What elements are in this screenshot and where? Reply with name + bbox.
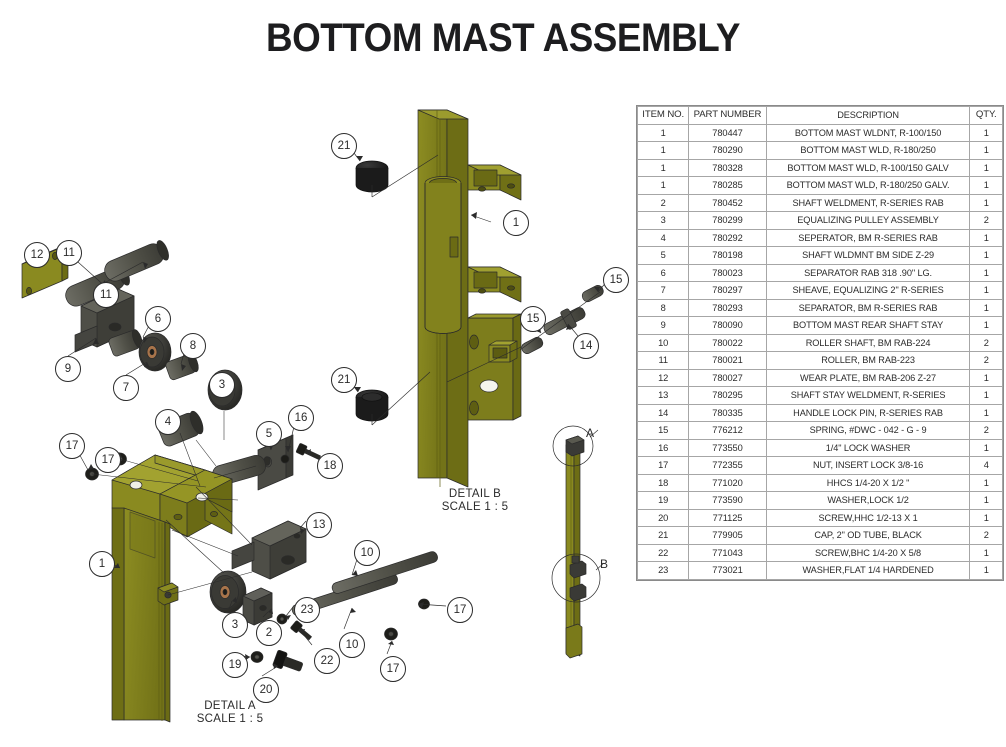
bom-cell-item: 17 [638, 457, 689, 475]
bom-cell-item: 8 [638, 299, 689, 317]
bom-cell-desc: WASHER,FLAT 1/4 HARDENED [766, 562, 970, 580]
drawing-sheet: BOTTOM MAST ASSEMBLY [0, 0, 1006, 747]
bom-cell-desc: HHCS 1/4-20 X 1/2 " [766, 474, 970, 492]
bom-cell-desc: BOTTOM MAST WLD, R-100/150 GALV [766, 159, 970, 177]
bom-cell-item: 23 [638, 562, 689, 580]
bom-col-item: ITEM NO. [638, 107, 689, 125]
bom-col-qty: QTY. [970, 107, 1003, 125]
bom-cell-desc: BOTTOM MAST REAR SHAFT STAY [766, 317, 970, 335]
balloon-callout-17: 17 [447, 597, 473, 623]
detail-b-caption: DETAIL B SCALE 1 : 5 [415, 488, 535, 513]
bom-cell-qty: 1 [970, 124, 1003, 142]
bom-cell-part: 780198 [689, 247, 766, 265]
bom-cell-qty: 1 [970, 299, 1003, 317]
table-row: 7780297SHEAVE, EQUALIZING 2" R-SERIES1 [638, 282, 1003, 300]
bom-cell-part: 771020 [689, 474, 766, 492]
bom-cell-item: 11 [638, 352, 689, 370]
bom-cell-part: 780447 [689, 124, 766, 142]
bom-cell-part: 780299 [689, 212, 766, 230]
pulley-3-lower [210, 571, 246, 613]
bom-cell-part: 776212 [689, 422, 766, 440]
bom-cell-qty: 2 [970, 527, 1003, 545]
table-row: 9780090BOTTOM MAST REAR SHAFT STAY1 [638, 317, 1003, 335]
bom-cell-qty: 1 [970, 142, 1003, 160]
bom-cell-qty: 1 [970, 387, 1003, 405]
overview-mast [552, 426, 600, 658]
balloon-callout-9: 9 [55, 356, 81, 382]
balloon-callout-15: 15 [603, 267, 629, 293]
balloon-callout-20: 20 [253, 677, 279, 703]
bom-cell-item: 1 [638, 142, 689, 160]
bom-cell-qty: 4 [970, 457, 1003, 475]
bom-cell-qty: 1 [970, 439, 1003, 457]
bom-cell-desc: NUT, INSERT LOCK 3/8-16 [766, 457, 970, 475]
balloon-callout-12: 12 [24, 242, 50, 268]
table-row: 21779905CAP, 2" OD TUBE, BLACK2 [638, 527, 1003, 545]
bom-cell-qty: 1 [970, 369, 1003, 387]
table-row: 15776212SPRING, #DWC - 042 - G - 92 [638, 422, 1003, 440]
bom-col-part: PART NUMBER [689, 107, 766, 125]
bom-cell-item: 16 [638, 439, 689, 457]
table-row: 1780290BOTTOM MAST WLD, R-180/2501 [638, 142, 1003, 160]
bom-cell-qty: 1 [970, 404, 1003, 422]
bom-cell-qty: 2 [970, 422, 1003, 440]
bom-cell-part: 780090 [689, 317, 766, 335]
table-row: 23773021WASHER,FLAT 1/4 HARDENED1 [638, 562, 1003, 580]
bom-cell-part: 780335 [689, 404, 766, 422]
bom-cell-item: 6 [638, 264, 689, 282]
table-row: 5780198SHAFT WLDMNT BM SIDE Z-291 [638, 247, 1003, 265]
bom-cell-desc: SHAFT WLDMNT BM SIDE Z-29 [766, 247, 970, 265]
bom-cell-qty: 1 [970, 194, 1003, 212]
table-row: 12780027WEAR PLATE, BM RAB-206 Z-271 [638, 369, 1003, 387]
balloon-callout-17: 17 [95, 447, 121, 473]
nut-17-c [385, 628, 398, 640]
bom-cell-qty: 1 [970, 544, 1003, 562]
bom-cell-item: 20 [638, 509, 689, 527]
bom-cell-desc: BOTTOM MAST WLDNT, R-100/150 [766, 124, 970, 142]
detail-b-title: DETAIL B [415, 488, 535, 501]
table-row: 11780021ROLLER, BM RAB-2232 [638, 352, 1003, 370]
table-row: 1780328BOTTOM MAST WLD, R-100/150 GALV1 [638, 159, 1003, 177]
table-row: 13780295SHAFT STAY WELDMENT, R-SERIES1 [638, 387, 1003, 405]
table-row: 2780452SHAFT WELDMENT, R-SERIES RAB1 [638, 194, 1003, 212]
bom-cell-item: 1 [638, 159, 689, 177]
table-row: 1780447BOTTOM MAST WLDNT, R-100/1501 [638, 124, 1003, 142]
bom-cell-qty: 2 [970, 334, 1003, 352]
bom-cell-item: 2 [638, 194, 689, 212]
bom-cell-item: 14 [638, 404, 689, 422]
bom-cell-part: 773590 [689, 492, 766, 510]
bom-cell-item: 1 [638, 177, 689, 195]
bom-cell-item: 1 [638, 124, 689, 142]
balloon-callout-1: 1 [89, 551, 115, 577]
table-row: 167735501/4" LOCK WASHER1 [638, 439, 1003, 457]
bom-cell-part: 780023 [689, 264, 766, 282]
shaft-stay-weldment-13 [232, 521, 306, 579]
bom-cell-item: 21 [638, 527, 689, 545]
detail-a-caption: DETAIL A SCALE 1 : 5 [160, 700, 300, 725]
bom-cell-part: 771125 [689, 509, 766, 527]
balloon-callout-10: 10 [339, 632, 365, 658]
bom-cell-item: 3 [638, 212, 689, 230]
bom-cell-desc: SHAFT STAY WELDMENT, R-SERIES [766, 387, 970, 405]
lock-washer-16 [281, 455, 289, 463]
bom-cell-qty: 1 [970, 509, 1003, 527]
detail-b-scale: SCALE 1 : 5 [415, 501, 535, 514]
balloon-callout-6: 6 [145, 306, 171, 332]
roller-shaft-10-b [331, 550, 439, 594]
bom-cell-qty: 1 [970, 492, 1003, 510]
bom-cell-part: 773550 [689, 439, 766, 457]
bom-cell-part: 773021 [689, 562, 766, 580]
balloon-callout-3: 3 [222, 612, 248, 638]
bom-cell-desc: HANDLE LOCK PIN, R-SERIES RAB [766, 404, 970, 422]
bom-cell-desc: SHAFT WELDMENT, R-SERIES RAB [766, 194, 970, 212]
balloon-callout-21: 21 [331, 133, 357, 159]
bom-cell-desc: BOTTOM MAST WLD, R-180/250 GALV. [766, 177, 970, 195]
balloon-callout-7: 7 [113, 375, 139, 401]
bom-cell-qty: 1 [970, 264, 1003, 282]
table-row: 1780285BOTTOM MAST WLD, R-180/250 GALV.1 [638, 177, 1003, 195]
table-row: 3780299EQUALIZING PULLEY ASSEMBLY2 [638, 212, 1003, 230]
bom-cell-item: 15 [638, 422, 689, 440]
table-row: 10780022ROLLER SHAFT, BM RAB-2242 [638, 334, 1003, 352]
balloon-callout-5: 5 [256, 421, 282, 447]
bom-cell-item: 7 [638, 282, 689, 300]
roller-11-b [102, 239, 171, 284]
bom-cell-part: 780297 [689, 282, 766, 300]
table-row: 20771125SCREW,HHC 1/2-13 X 11 [638, 509, 1003, 527]
table-row: 4780292SEPERATOR, BM R-SERIES RAB1 [638, 229, 1003, 247]
bom-cell-qty: 1 [970, 177, 1003, 195]
bom-cell-item: 19 [638, 492, 689, 510]
detail-b-mast-column [418, 110, 521, 487]
bom-cell-part: 780290 [689, 142, 766, 160]
bom-cell-desc: SPRING, #DWC - 042 - G - 9 [766, 422, 970, 440]
bom-cell-qty: 1 [970, 282, 1003, 300]
bom-cell-qty: 1 [970, 229, 1003, 247]
bom-cell-desc: BOTTOM MAST WLD, R-180/250 [766, 142, 970, 160]
bom-cell-item: 13 [638, 387, 689, 405]
detail-marker-b: B [600, 558, 608, 570]
bom-cell-desc: CAP, 2" OD TUBE, BLACK [766, 527, 970, 545]
balloon-callout-17: 17 [59, 433, 85, 459]
bom-cell-part: 780452 [689, 194, 766, 212]
balloon-callout-11: 11 [56, 240, 82, 266]
bom-cell-desc: EQUALIZING PULLEY ASSEMBLY [766, 212, 970, 230]
balloon-callout-1: 1 [503, 210, 529, 236]
bom-cell-part: 771043 [689, 544, 766, 562]
balloon-callout-3: 3 [209, 372, 235, 398]
bom-cell-desc: WASHER,LOCK 1/2 [766, 492, 970, 510]
balloon-callout-2: 2 [256, 620, 282, 646]
balloon-callout-22: 22 [314, 648, 340, 674]
bom-cell-desc: 1/4" LOCK WASHER [766, 439, 970, 457]
screw-20 [272, 650, 304, 676]
bom-cell-item: 5 [638, 247, 689, 265]
bom-header-row: ITEM NO. PART NUMBER DESCRIPTION QTY. [638, 107, 1003, 125]
balloon-callout-11: 11 [93, 282, 119, 308]
bom-cell-qty: 1 [970, 317, 1003, 335]
detail-a-scale: SCALE 1 : 5 [160, 713, 300, 726]
bom-cell-qty: 1 [970, 159, 1003, 177]
balloon-callout-13: 13 [306, 512, 332, 538]
table-row: 18771020HHCS 1/4-20 X 1/2 "1 [638, 474, 1003, 492]
balloon-callout-19: 19 [222, 652, 248, 678]
bom-cell-desc: SHEAVE, EQUALIZING 2" R-SERIES [766, 282, 970, 300]
lock-washer-19 [251, 652, 263, 663]
balloon-callout-8: 8 [180, 333, 206, 359]
table-row: 22771043SCREW,BHC 1/4-20 X 5/81 [638, 544, 1003, 562]
bom-cell-desc: SEPARATOR RAB 318 .90" LG. [766, 264, 970, 282]
bom-cell-part: 780328 [689, 159, 766, 177]
table-row: 17772355NUT, INSERT LOCK 3/8-164 [638, 457, 1003, 475]
balloon-callout-18: 18 [317, 453, 343, 479]
bom-cell-qty: 1 [970, 474, 1003, 492]
bom-cell-desc: SEPERATOR, BM R-SERIES RAB [766, 229, 970, 247]
bom-cell-part: 780027 [689, 369, 766, 387]
bom-cell-item: 10 [638, 334, 689, 352]
flat-washer-23 [277, 614, 287, 624]
table-row: 6780023SEPARATOR RAB 318 .90" LG.1 [638, 264, 1003, 282]
bom-cell-part: 780295 [689, 387, 766, 405]
bom-cell-desc: SCREW,BHC 1/4-20 X 5/8 [766, 544, 970, 562]
bom-cell-desc: SCREW,HHC 1/2-13 X 1 [766, 509, 970, 527]
bom-cell-qty: 1 [970, 562, 1003, 580]
bom-cell-part: 780292 [689, 229, 766, 247]
bom-cell-qty: 2 [970, 212, 1003, 230]
balloon-callout-14: 14 [573, 333, 599, 359]
balloon-callout-10: 10 [354, 540, 380, 566]
bom-cell-desc: SEPARATOR, BM R-SERIES RAB [766, 299, 970, 317]
table-row: 14780335HANDLE LOCK PIN, R-SERIES RAB1 [638, 404, 1003, 422]
bom-cell-desc: ROLLER SHAFT, BM RAB-224 [766, 334, 970, 352]
bom-cell-item: 22 [638, 544, 689, 562]
bom-cell-part: 780285 [689, 177, 766, 195]
balloon-callout-16: 16 [288, 405, 314, 431]
bom-cell-desc: ROLLER, BM RAB-223 [766, 352, 970, 370]
bom-cell-item: 12 [638, 369, 689, 387]
bom-cell-part: 780293 [689, 299, 766, 317]
detail-a-title: DETAIL A [160, 700, 300, 713]
balloon-callout-17: 17 [380, 656, 406, 682]
bom-col-desc: DESCRIPTION [766, 107, 970, 125]
table-row: 8780293SEPARATOR, BM R-SERIES RAB1 [638, 299, 1003, 317]
balloon-callout-23: 23 [294, 597, 320, 623]
balloon-callout-15: 15 [520, 306, 546, 332]
bom-cell-qty: 1 [970, 247, 1003, 265]
bom-cell-item: 18 [638, 474, 689, 492]
bom-cell-part: 780022 [689, 334, 766, 352]
balloon-callout-4: 4 [155, 409, 181, 435]
bom-cell-part: 780021 [689, 352, 766, 370]
table-row: 19773590WASHER,LOCK 1/21 [638, 492, 1003, 510]
bom-cell-item: 4 [638, 229, 689, 247]
bom-cell-part: 779905 [689, 527, 766, 545]
bom-cell-item: 9 [638, 317, 689, 335]
balloon-callout-21: 21 [331, 367, 357, 393]
bom-cell-desc: WEAR PLATE, BM RAB-206 Z-27 [766, 369, 970, 387]
bom-cell-qty: 2 [970, 352, 1003, 370]
detail-marker-a: A [586, 427, 594, 439]
bom-cell-part: 772355 [689, 457, 766, 475]
bill-of-materials: ITEM NO. PART NUMBER DESCRIPTION QTY. 17… [636, 105, 1004, 581]
